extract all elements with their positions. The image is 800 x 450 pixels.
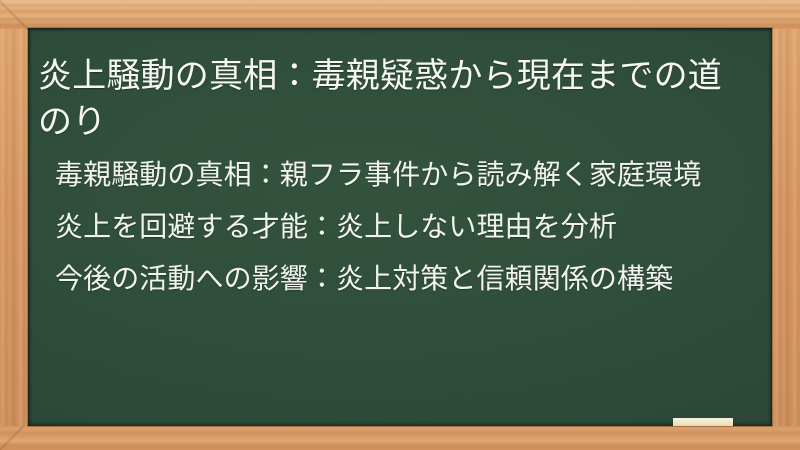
frame-bottom-rail bbox=[0, 426, 800, 450]
chalk-eraser-icon bbox=[673, 418, 733, 426]
list-item: 今後の活動への影響：炎上対策と信頼関係の構築 bbox=[38, 256, 752, 302]
chalkboard-surface: 炎上騒動の真相：毒親疑惑から現在までの道のり 毒親騒動の真相：親フラ事件から読み… bbox=[28, 28, 772, 426]
board-title: 炎上騒動の真相：毒親疑惑から現在までの道のり bbox=[38, 53, 738, 145]
list-item: 毒親騒動の真相：親フラ事件から読み解く家庭環境 bbox=[38, 152, 752, 198]
frame-top-rail bbox=[0, 0, 800, 29]
board-topic-list: 毒親騒動の真相：親フラ事件から読み解く家庭環境 炎上を回避する才能：炎上しない理… bbox=[38, 152, 752, 308]
board-content: 炎上騒動の真相：毒親疑惑から現在までの道のり 毒親騒動の真相：親フラ事件から読み… bbox=[28, 28, 772, 426]
list-item: 炎上を回避する才能：炎上しない理由を分析 bbox=[38, 204, 752, 250]
chalkboard-slide: 炎上騒動の真相：毒親疑惑から現在までの道のり 毒親騒動の真相：親フラ事件から読み… bbox=[0, 0, 800, 450]
